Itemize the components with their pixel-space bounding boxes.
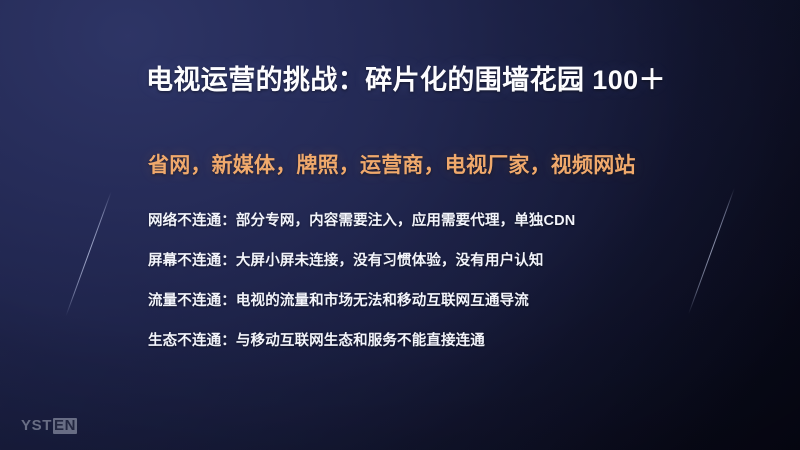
- presentation-slide: 电视运营的挑战：碎片化的围墙花园 100＋ 省网，新媒体，牌照，运营商，电视厂家…: [0, 0, 800, 450]
- bullet-item: 网络不连通：部分专网，内容需要注入，应用需要代理，单独CDN: [148, 211, 708, 251]
- decorative-diagonal-streak-left: [65, 192, 111, 316]
- logo-boxed-mark: EN: [53, 418, 77, 434]
- bullet-item: 生态不连通：与移动互联网生态和服务不能直接连通: [148, 331, 708, 371]
- bullet-item: 屏幕不连通：大屏小屏未连接，没有习惯体验，没有用户认知: [148, 251, 708, 291]
- bullet-item: 流量不连通：电视的流量和市场无法和移动互联网互通导流: [148, 291, 708, 331]
- slide-title: 电视运营的挑战：碎片化的围墙花园 100＋: [146, 58, 666, 97]
- slide-subtitle: 省网，新媒体，牌照，运营商，电视厂家，视频网站: [148, 149, 636, 179]
- logo-wordmark: YST: [21, 418, 52, 434]
- ysten-logo: YSTEN: [21, 418, 77, 434]
- bullet-list: 网络不连通：部分专网，内容需要注入，应用需要代理，单独CDN 屏幕不连通：大屏小…: [148, 211, 708, 371]
